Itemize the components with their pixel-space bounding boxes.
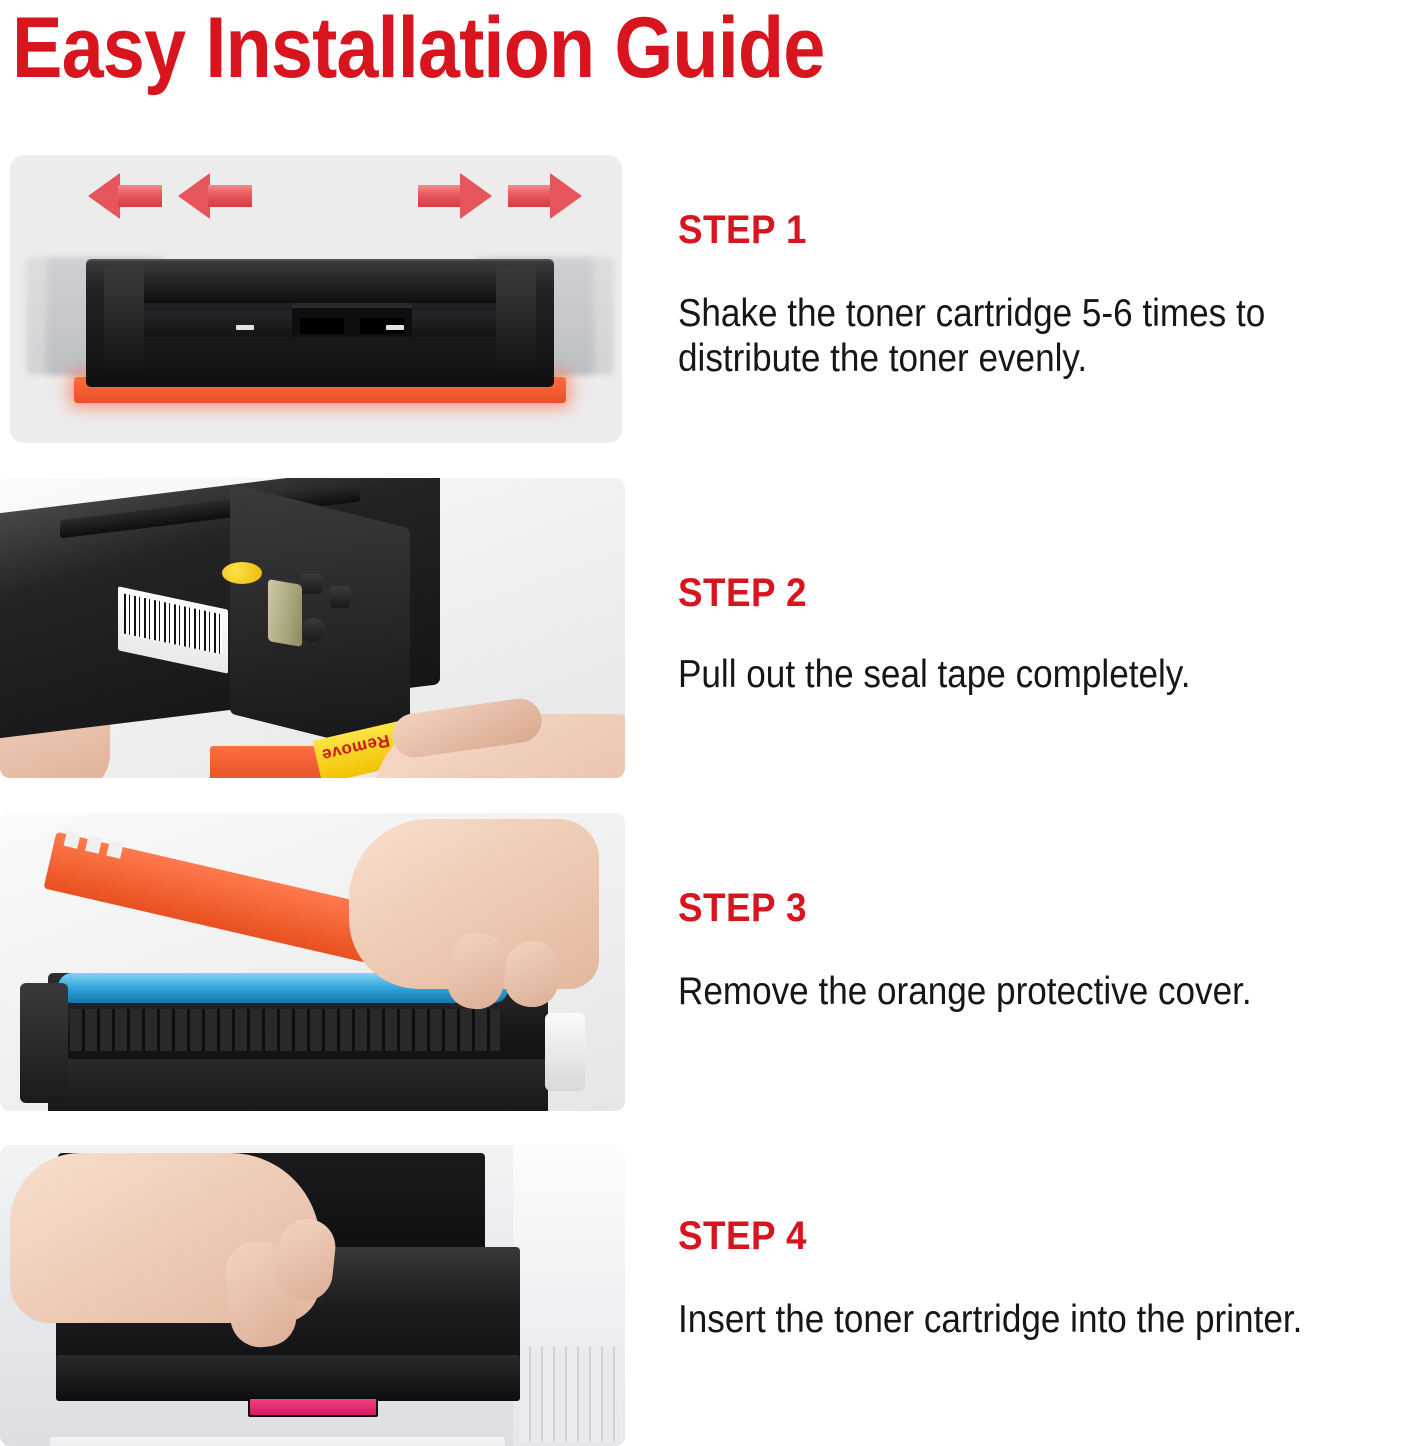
shake-arrow-right-inner-icon — [418, 173, 492, 219]
cartridge-black-body — [86, 259, 554, 387]
step-1-text: STEP 1 Shake the toner cartridge 5-6 tim… — [678, 207, 1402, 381]
shake-arrow-left-outer-icon — [88, 173, 162, 219]
step-2-label: STEP 2 — [678, 570, 1344, 616]
step-2-image: Remove — [0, 478, 625, 778]
cover-notch-2 — [85, 835, 102, 854]
magenta-slot-label — [248, 1397, 378, 1417]
step-row-2: Remove STEP 2 Pull out the seal tape com… — [0, 478, 1412, 778]
step-3-text: STEP 3 Remove the orange protective cove… — [678, 885, 1402, 1014]
cartridge-orange-foot — [210, 746, 328, 778]
drum-lower-shell — [48, 1059, 548, 1111]
step-1-body: Shake the toner cartridge 5-6 times to d… — [678, 291, 1398, 381]
toner-cartridge-shake-illustration — [10, 155, 622, 443]
step-3-body: Remove the orange protective cover. — [678, 969, 1398, 1014]
toner-funnel — [268, 579, 302, 647]
step-2-body: Pull out the seal tape completely. — [678, 652, 1398, 697]
cartridge-face-hole — [300, 618, 326, 642]
pull-seal-tape-photo: Remove — [0, 478, 625, 778]
drum-left-end-cap — [20, 983, 68, 1103]
shake-arrow-right-outer-icon — [508, 173, 582, 219]
step-1-label: STEP 1 — [678, 207, 1344, 253]
cartridge-end-cap-left — [104, 267, 144, 371]
step-4-text: STEP 4 Insert the toner cartridge into t… — [678, 1213, 1402, 1342]
step-4-label: STEP 4 — [678, 1213, 1344, 1259]
cartridge-end-cap-right — [496, 267, 536, 371]
installation-guide-page: Easy Installation Guide — [0, 0, 1412, 1446]
shake-arrow-left-inner-icon — [178, 173, 252, 219]
step-4-image — [0, 1145, 625, 1446]
printer-inner-tray — [50, 1437, 505, 1446]
cover-notch-3 — [106, 840, 123, 859]
toner-cartridge-graphic — [60, 253, 580, 403]
cartridge-tick-left — [236, 325, 254, 330]
printer-vent-grill — [519, 1346, 623, 1442]
step-row-3: STEP 3 Remove the orange protective cove… — [0, 813, 1412, 1111]
drum-fins — [70, 1009, 500, 1051]
step-3-image — [0, 813, 625, 1111]
step-1-image — [10, 155, 622, 443]
cartridge-front-lip — [56, 1355, 520, 1401]
insert-cartridge-into-printer-photo — [0, 1145, 625, 1446]
remove-orange-cover-photo — [0, 813, 625, 1111]
step-3-label: STEP 3 — [678, 885, 1344, 931]
cartridge-top-bar — [138, 273, 502, 303]
cartridge-face-port-b — [330, 586, 350, 608]
step-4-body: Insert the toner cartridge into the prin… — [678, 1297, 1398, 1342]
step-row-1: STEP 1 Shake the toner cartridge 5-6 tim… — [0, 155, 1412, 443]
step-row-4: STEP 4 Insert the toner cartridge into t… — [0, 1145, 1412, 1446]
cartridge-center-chip — [292, 303, 412, 337]
page-title: Easy Installation Guide — [12, 0, 824, 98]
cover-notch-1 — [64, 830, 81, 849]
step-2-text: STEP 2 Pull out the seal tape completely… — [678, 570, 1402, 697]
cartridge-tick-right — [386, 325, 404, 330]
cartridge-face-port-a — [300, 574, 322, 594]
yellow-cap — [222, 562, 262, 584]
white-gear-roller — [545, 1013, 585, 1091]
